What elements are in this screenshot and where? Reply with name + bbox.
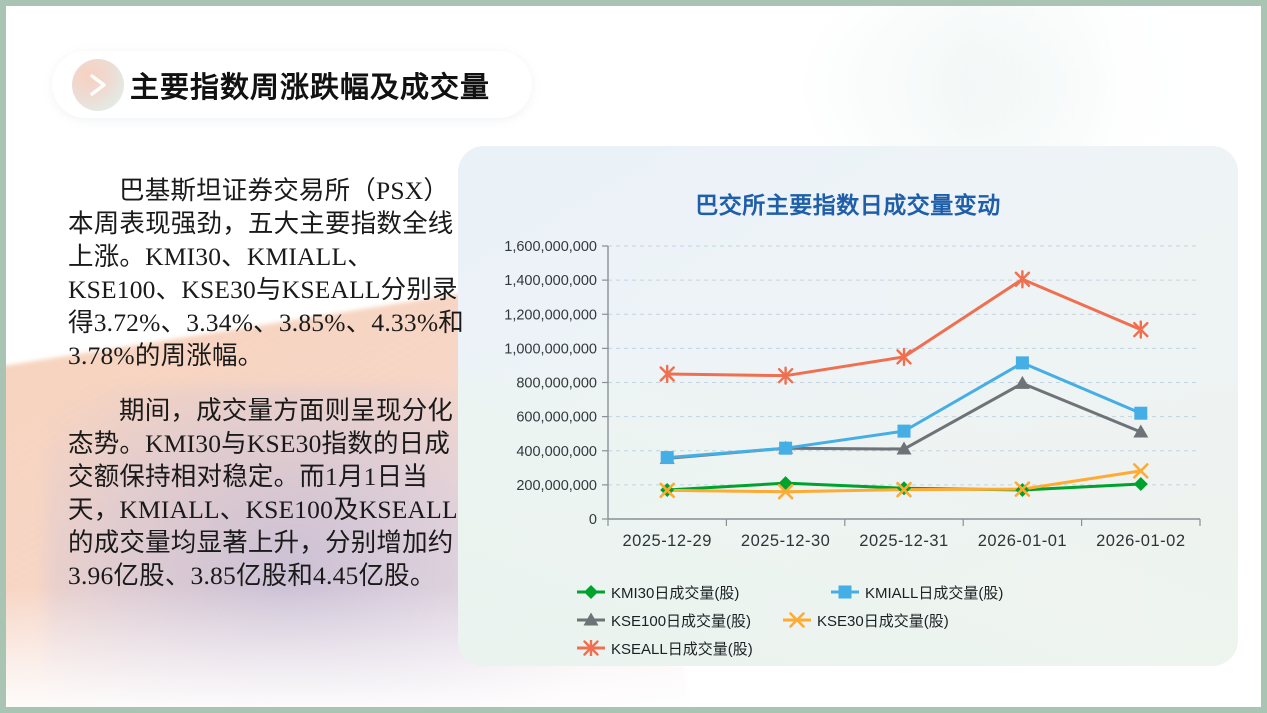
data-point-marker bbox=[1134, 407, 1147, 420]
data-point-marker bbox=[898, 425, 911, 438]
legend-marker-icon bbox=[576, 640, 606, 656]
y-axis-tick-label: 600,000,000 bbox=[516, 410, 597, 426]
y-axis-tick-label: 1,600,000,000 bbox=[504, 239, 597, 255]
x-axis-tick-label: 2025-12-29 bbox=[622, 532, 711, 550]
chevron-right-icon bbox=[72, 59, 124, 111]
x-axis-tick-label: 2025-12-30 bbox=[741, 532, 830, 550]
data-point-marker bbox=[779, 442, 792, 455]
data-point-marker bbox=[839, 586, 852, 599]
y-axis-tick-label: 200,000,000 bbox=[516, 478, 597, 494]
data-point-marker bbox=[1134, 477, 1148, 491]
y-axis-tick-label: 800,000,000 bbox=[516, 376, 597, 392]
legend-marker-icon bbox=[830, 584, 860, 600]
y-axis-tick-label: 1,000,000,000 bbox=[504, 341, 597, 357]
legend-marker-icon bbox=[576, 584, 606, 600]
y-axis-tick-label: 400,000,000 bbox=[516, 444, 597, 460]
legend-label: KMIALL日成交量(股) bbox=[865, 582, 1003, 603]
x-axis-tick-label: 2026-01-02 bbox=[1096, 532, 1185, 550]
header-pill: 主要指数周涨跌幅及成交量 bbox=[52, 51, 532, 118]
y-axis-tick-label: 1,200,000,000 bbox=[504, 307, 597, 323]
legend-item[interactable]: KSE30日成交量(股) bbox=[782, 606, 1026, 634]
chart-card: 巴交所主要指数日成交量变动 0200,000,000400,000,000600… bbox=[458, 146, 1238, 666]
legend-item[interactable]: KMI30日成交量(股) bbox=[576, 578, 820, 606]
legend-label: KSE30日成交量(股) bbox=[817, 610, 949, 631]
legend-marker-icon bbox=[782, 612, 812, 628]
chart-legend: KMI30日成交量(股)KMIALL日成交量(股)KSE100日成交量(股)KS… bbox=[576, 578, 1216, 662]
legend-item[interactable]: KSE100日成交量(股) bbox=[576, 606, 772, 634]
x-axis-tick-label: 2026-01-01 bbox=[978, 532, 1067, 550]
data-point-marker bbox=[661, 451, 674, 464]
data-point-marker bbox=[1016, 356, 1029, 369]
legend-item[interactable]: KSEALL日成交量(股) bbox=[576, 634, 820, 662]
article-paragraph-1: 巴基斯坦证券交易所（PSX）本周表现强劲，五大主要指数全线上涨。KMI30、KM… bbox=[68, 174, 468, 372]
legend-label: KSE100日成交量(股) bbox=[611, 610, 751, 631]
data-point-marker bbox=[584, 585, 598, 599]
legend-marker-icon bbox=[576, 612, 606, 628]
article-text: 巴基斯坦证券交易所（PSX）本周表现强劲，五大主要指数全线上涨。KMI30、KM… bbox=[68, 174, 468, 592]
legend-label: KMI30日成交量(股) bbox=[611, 582, 739, 603]
slide-page: 主要指数周涨跌幅及成交量 巴基斯坦证券交易所（PSX）本周表现强劲，五大主要指数… bbox=[0, 0, 1267, 713]
legend-label: KSEALL日成交量(股) bbox=[611, 638, 753, 659]
data-point-marker bbox=[1016, 271, 1029, 287]
article-paragraph-2: 期间，成交量方面则呈现分化态势。KMI30与KSE30指数的日成交额保持相对稳定… bbox=[68, 394, 468, 592]
page-title: 主要指数周涨跌幅及成交量 bbox=[130, 64, 490, 106]
y-axis-tick-label: 0 bbox=[589, 512, 597, 528]
legend-item[interactable]: KMIALL日成交量(股) bbox=[830, 578, 1074, 606]
x-axis-tick-label: 2025-12-31 bbox=[859, 532, 948, 550]
data-point-marker bbox=[1134, 322, 1147, 338]
y-axis-tick-label: 1,400,000,000 bbox=[504, 273, 597, 289]
